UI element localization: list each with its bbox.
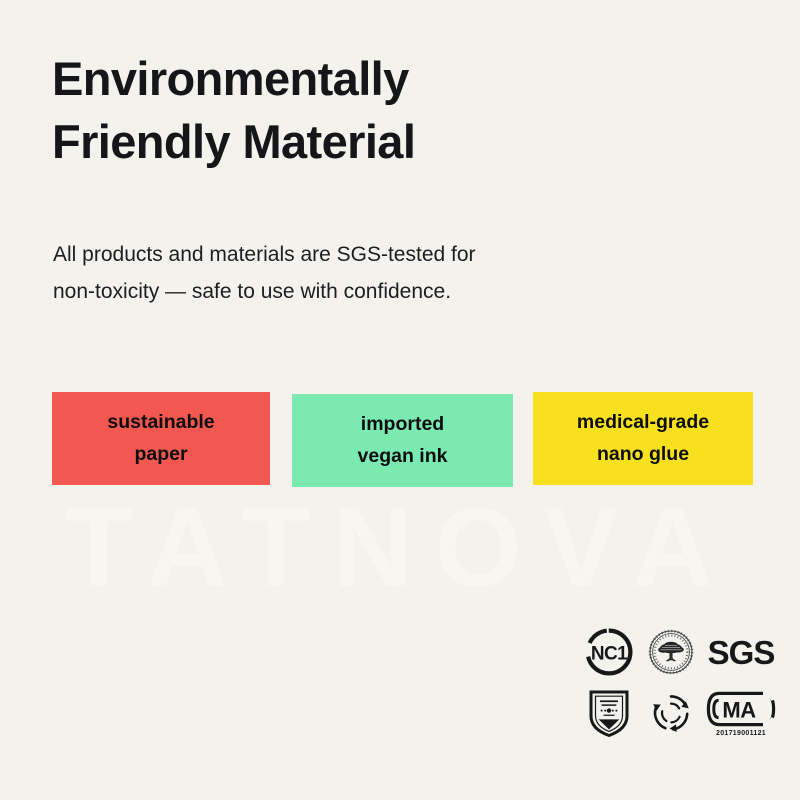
tag-sustainable-paper-line-1: sustainable [107,407,214,439]
tag-imported-vegan-ink: imported vegan ink [292,394,513,487]
certification-badge-grid: NC1 [578,622,780,748]
nc1-certification-badge: NC1 [578,622,640,682]
page-title: Environmentally Friendly Material [52,48,692,173]
page-title-line-1: Environmentally [52,48,692,111]
tag-imported-vegan-ink-line-2: vegan ink [358,441,448,473]
tree-seal-certification-badge [640,622,702,682]
recycling-certification-badge [640,682,702,744]
page-subtitle-line-2: non-toxicity — safe to use with confiden… [53,273,673,310]
tag-imported-vegan-ink-line-1: imported [361,409,444,441]
tag-sustainable-paper: sustainable paper [52,392,270,485]
page-subtitle-line-1: All products and materials are SGS-teste… [53,236,673,273]
page-subtitle: All products and materials are SGS-teste… [53,236,673,311]
svg-text:NC1: NC1 [591,644,628,665]
svg-text:MA: MA [722,697,756,722]
recycle-arrows-icon [647,689,695,737]
tag-sustainable-paper-line-2: paper [134,439,187,471]
brand-watermark: TATNOVA [0,492,800,604]
shield-certification-badge [578,682,640,744]
tag-medical-grade-nano-glue-line-1: medical-grade [577,407,709,439]
material-tag-row: sustainable paper imported vegan ink med… [52,392,752,492]
cma-certificate-number: 201719001121 [716,730,766,737]
cma-certification-badge: MA 201719001121 [702,682,780,744]
tree-seal-icon [647,628,695,676]
page-title-line-2: Friendly Material [52,111,692,174]
shield-chevron-icon [588,688,630,738]
nc1-circle-icon: NC1 [584,627,634,677]
sgs-wordmark-icon: SGS [708,636,775,669]
tag-medical-grade-nano-glue: medical-grade nano glue [533,392,753,485]
cma-mark-icon: MA [705,690,777,728]
sgs-certification-badge: SGS [702,622,780,682]
tag-medical-grade-nano-glue-line-2: nano glue [597,439,689,471]
